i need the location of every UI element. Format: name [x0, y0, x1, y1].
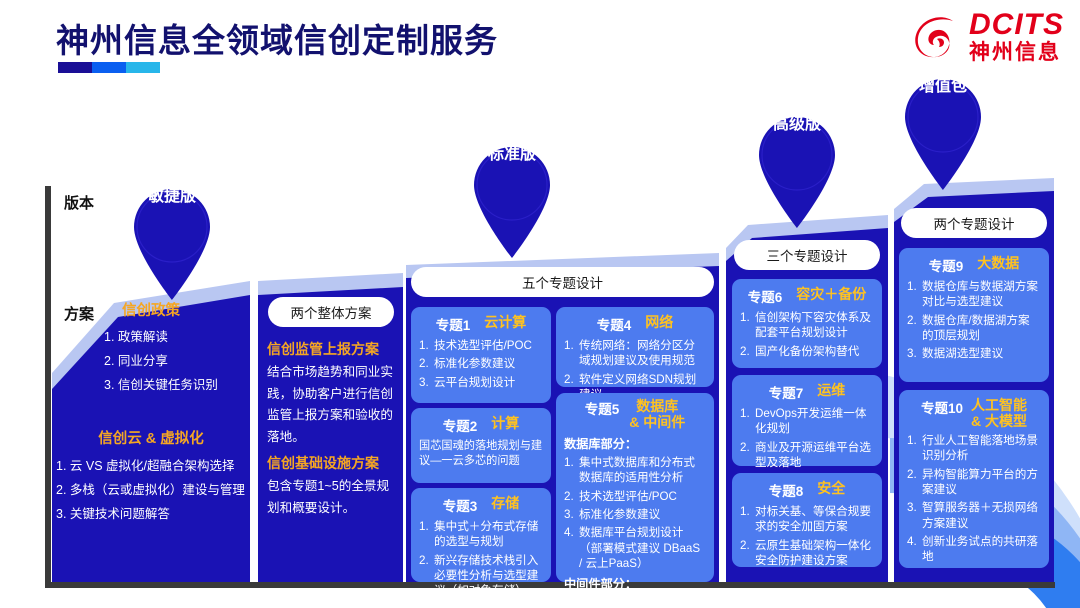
- topic-item: 3.云平台规划设计: [419, 375, 543, 390]
- topic-item: 3.智算服务器＋无损网络方案建议: [907, 500, 1041, 531]
- topic-card-4[interactable]: 专题4 网络 1.传统网络：网络分区分域规划建议及使用规范 2.软件定义网络SD…: [556, 307, 714, 387]
- topic-item: 1.对标关基、等保合规要求的安全加固方案: [740, 504, 874, 535]
- axis-label-solution: 方案: [64, 303, 94, 324]
- topic-item: 4.数据库平台规划设计（部署模式建议 DBaaS / 云上PaaS）: [564, 525, 706, 571]
- column-standard[interactable]: 五个专题设计 专题1 云计算 1.技术选型评估/POC 2.标准化参数建议 3.…: [406, 245, 719, 582]
- column-advanced[interactable]: 三个专题设计 专题6 容灾＋备份 1.信创架构下容灾体系及配套平台规划设计 2.…: [726, 215, 888, 582]
- axis-vertical: [45, 186, 51, 586]
- pin-label-standard: 标准版: [466, 140, 558, 164]
- agile-item: 1. 云 VS 虚拟化/超融合架构选择: [56, 455, 250, 479]
- topic-item: 1.行业人工智能落地场景识别分析: [907, 433, 1041, 464]
- topic-number: 专题7: [769, 382, 804, 402]
- pill-advanced: 三个专题设计: [734, 240, 880, 270]
- topic-tag: 网络: [645, 314, 673, 330]
- topic-item: 1.数据仓库与数据湖方案对比与选型建议: [907, 279, 1041, 310]
- topic-tag: 存储: [491, 495, 519, 511]
- title-bar-2: [92, 62, 126, 73]
- topic-tag: 大数据: [977, 255, 1019, 271]
- topic-card-2[interactable]: 专题2 计算 国芯国魂的落地规划与建议—一云多芯的问题: [411, 408, 551, 483]
- agile-item: 2. 同业分享: [104, 350, 250, 374]
- pin-label-value-pack: 增值包: [897, 72, 989, 96]
- topic-item: 2.新兴存储技术栈引入必要性分析与选型建议（如对象存储）: [419, 553, 543, 599]
- topic-subheading-mw: 中间件部分：: [564, 574, 706, 592]
- slide-canvas: 神州信息全领域信创定制服务 DCITS 神州信息 版本 方案 信创政策 1. 政…: [0, 0, 1080, 608]
- topic-subheading-db: 数据库部分：: [564, 434, 706, 452]
- topic-card-7[interactable]: 专题7 运维 1.DevOps开发运维一体化规划 2.商业及开源运维平台选型及落…: [732, 375, 882, 466]
- topic-card-10[interactable]: 专题10 人工智能 & 大模型 1.行业人工智能落地场景识别分析 2.异构智能算…: [899, 390, 1049, 568]
- column-value-pack[interactable]: 两个专题设计 专题9 大数据 1.数据仓库与数据湖方案对比与选型建议 2.数据仓…: [894, 178, 1054, 582]
- topic-number: 专题9: [929, 255, 964, 275]
- topic-number: 专题1: [436, 314, 471, 334]
- topic-item: 3.标准化参数建议: [564, 507, 706, 522]
- topic-item: 1.集中式数据库和分布式数据库的适用性分析: [564, 455, 706, 486]
- topic-number: 专题10: [921, 397, 963, 417]
- topic-item: 2.标准化参数建议: [419, 356, 543, 371]
- agile-heading-2: 信创云 & 虚拟化: [52, 427, 250, 448]
- topic-number: 专题5: [585, 398, 620, 418]
- axis-horizontal: [45, 582, 1055, 588]
- topic-card-9[interactable]: 专题9 大数据 1.数据仓库与数据湖方案对比与选型建议 2.数据仓库/数据湖方案…: [899, 248, 1049, 382]
- topic-tag: 人工智能 & 大模型: [971, 397, 1027, 429]
- topic-number: 专题3: [443, 495, 478, 515]
- title-bar-1: [58, 62, 92, 73]
- topic-tag: 安全: [817, 480, 845, 496]
- pill-standard: 五个专题设计: [411, 267, 714, 297]
- topic-item: 2.商业及开源运维平台选型及落地: [740, 440, 874, 471]
- agile-item: 3. 信创关键任务识别: [104, 374, 250, 398]
- topic-item: 4.创新业务试点的共研落地: [907, 534, 1041, 565]
- topic-item: 1.DevOps开发运维一体化规划: [740, 406, 874, 437]
- topic-tag: 数据库 & 中间件: [629, 398, 685, 430]
- topic-item: 2.国产化备份架构替代: [740, 344, 874, 359]
- topic-tag: 运维: [817, 382, 845, 398]
- plans-heading-2: 信创基础设施方案: [267, 453, 395, 473]
- plans-heading-1: 信创监管上报方案: [267, 339, 395, 359]
- topic-item: 3.数据湖选型建议: [907, 346, 1041, 361]
- topic-plain-text: 国芯国魂的落地规划与建议—一云多芯的问题: [419, 439, 543, 468]
- topic-item: 2.技术选型评估/POC: [564, 489, 706, 504]
- topic-card-3[interactable]: 专题3 存储 1.集中式＋分布式存储的选型与规划 2.新兴存储技术栈引入必要性分…: [411, 488, 551, 582]
- pin-label-advanced: 高级版: [751, 110, 843, 134]
- topic-tag: 计算: [491, 415, 519, 431]
- topic-card-5[interactable]: 专题5 数据库 & 中间件 数据库部分： 1.集中式数据库和分布式数据库的适用性…: [556, 393, 714, 582]
- logo-text-en: DCITS: [969, 10, 1064, 40]
- plans-block-1: 信创监管上报方案 结合市场趋势和同业实践，协助客户进行信创监管上报方案和验收的落…: [267, 339, 395, 449]
- topic-number: 专题4: [597, 314, 632, 334]
- topic-item: 2.异构智能算力平台的方案建议: [907, 467, 1041, 498]
- topic-card-1[interactable]: 专题1 云计算 1.技术选型评估/POC 2.标准化参数建议 3.云平台规划设计: [411, 307, 551, 403]
- title-underline-bars: [58, 62, 160, 73]
- agile-item: 1. 政策解读: [104, 326, 250, 350]
- title-bar-3: [126, 62, 160, 73]
- plans-text-1: 结合市场趋势和同业实践，协助客户进行信创监管上报方案和验收的落地。: [267, 362, 395, 449]
- topic-tag: 容灾＋备份: [796, 286, 866, 302]
- pill-value-pack: 两个专题设计: [901, 208, 1047, 238]
- plans-text-2: 包含专题1~5的全景规划和概要设计。: [267, 476, 395, 519]
- column-overall-plans[interactable]: 两个整体方案 信创监管上报方案 结合市场趋势和同业实践，协助客户进行信创监管上报…: [258, 255, 403, 582]
- page-title: 神州信息全领域信创定制服务: [56, 14, 498, 62]
- dcits-swirl-icon: [913, 12, 963, 62]
- topic-card-6[interactable]: 专题6 容灾＋备份 1.信创架构下容灾体系及配套平台规划设计 2.国产化备份架构…: [732, 279, 882, 368]
- topic-item: 2.云原生基础架构一体化安全防护建设方案: [740, 538, 874, 569]
- topic-note: 中间件选型策略：云原生优先＋传统信创中间件＋开源管理: [564, 595, 706, 608]
- pin-label-agile: 敏捷版: [126, 182, 218, 206]
- topic-item: 1.集中式＋分布式存储的选型与规划: [419, 519, 543, 550]
- topic-item: 2.数据仓库/数据湖方案的顶层规划: [907, 313, 1041, 344]
- agile-item: 2. 多栈（云或虚拟化）建设与管理: [56, 479, 250, 503]
- topic-number: 专题8: [769, 480, 804, 500]
- topic-item: 1.传统网络：网络分区分域规划建议及使用规范: [564, 338, 706, 369]
- topic-card-8[interactable]: 专题8 安全 1.对标关基、等保合规要求的安全加固方案 2.云原生基础架构一体化…: [732, 473, 882, 567]
- pill-overall-plans: 两个整体方案: [268, 297, 394, 327]
- plans-block-2: 信创基础设施方案 包含专题1~5的全景规划和概要设计。: [267, 453, 395, 519]
- topic-number: 专题2: [443, 415, 478, 435]
- topic-item: 1.信创架构下容灾体系及配套平台规划设计: [740, 310, 874, 341]
- brand-logo: DCITS 神州信息: [913, 10, 1064, 63]
- topic-number: 专题6: [748, 286, 783, 306]
- agile-section-2: 信创云 & 虚拟化 1. 云 VS 虚拟化/超融合架构选择 2. 多栈（云或虚拟…: [52, 427, 250, 526]
- axis-label-version: 版本: [64, 192, 94, 213]
- agile-item: 3. 关键技术问题解答: [56, 503, 250, 527]
- logo-text-cn: 神州信息: [969, 42, 1064, 63]
- topic-item: 1.技术选型评估/POC: [419, 338, 543, 353]
- topic-tag: 云计算: [484, 314, 526, 330]
